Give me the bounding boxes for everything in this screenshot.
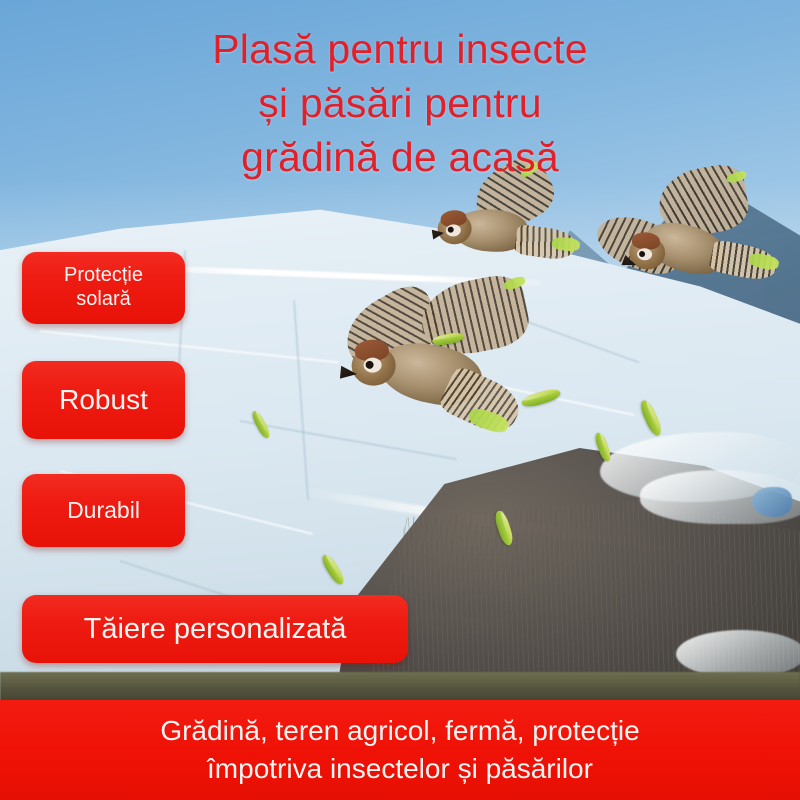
feature-badge-custom-cut[interactable]: Tăiere personalizată — [22, 595, 408, 663]
bottom-banner: Grădină, teren agricol, fermă, protecție… — [0, 700, 800, 800]
feature-badge-robust[interactable]: Robust — [22, 361, 185, 439]
product-advertisement: Plasă pentru insecte și păsări pentru gr… — [0, 0, 800, 800]
feature-badge-durable[interactable]: Durabil — [22, 474, 185, 547]
feature-badge-sun-protection[interactable]: Protecție solară — [22, 252, 185, 324]
feature-badge-list: Protecție solară Robust Durabil Tăiere p… — [0, 0, 800, 800]
